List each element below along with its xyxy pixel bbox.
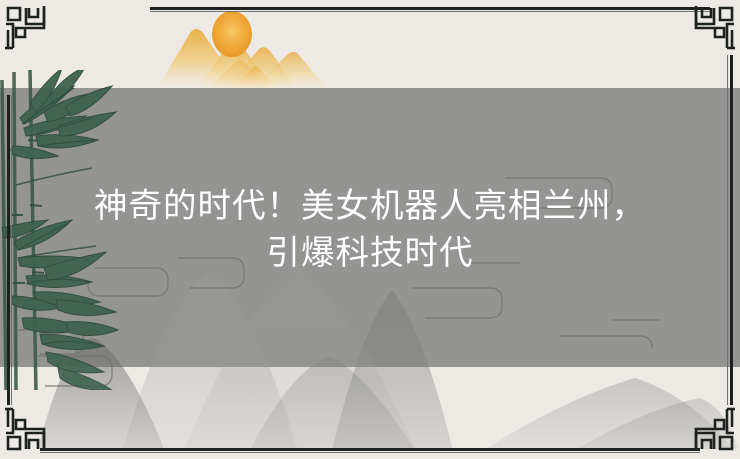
frame-rule-left-thin	[11, 95, 12, 405]
poster-canvas: 神奇的时代！美女机器人亮相兰州， 引爆科技时代	[0, 0, 740, 459]
frame-rule-bottom-thin	[40, 452, 700, 453]
background-band-bottom	[0, 367, 740, 459]
background-band-top	[0, 0, 740, 88]
frame-rule-bottom	[40, 448, 700, 451]
frame-rule-right-thin	[727, 55, 728, 405]
frame-rule-top	[150, 7, 710, 10]
poster-title-line-2: 引爆科技时代	[0, 229, 740, 276]
poster-title: 神奇的时代！美女机器人亮相兰州， 引爆科技时代	[0, 182, 740, 276]
meander-corner-bottom-left-icon	[4, 405, 52, 453]
frame-rule-right	[730, 55, 733, 405]
frame-rule-left	[7, 95, 10, 405]
poster-title-line-1: 神奇的时代！美女机器人亮相兰州，	[0, 182, 740, 229]
meander-corner-bottom-right-icon	[688, 405, 736, 453]
frame-rule-top-thin	[150, 11, 710, 12]
meander-corner-top-right-icon	[688, 4, 736, 52]
meander-corner-top-left-icon	[4, 4, 52, 52]
